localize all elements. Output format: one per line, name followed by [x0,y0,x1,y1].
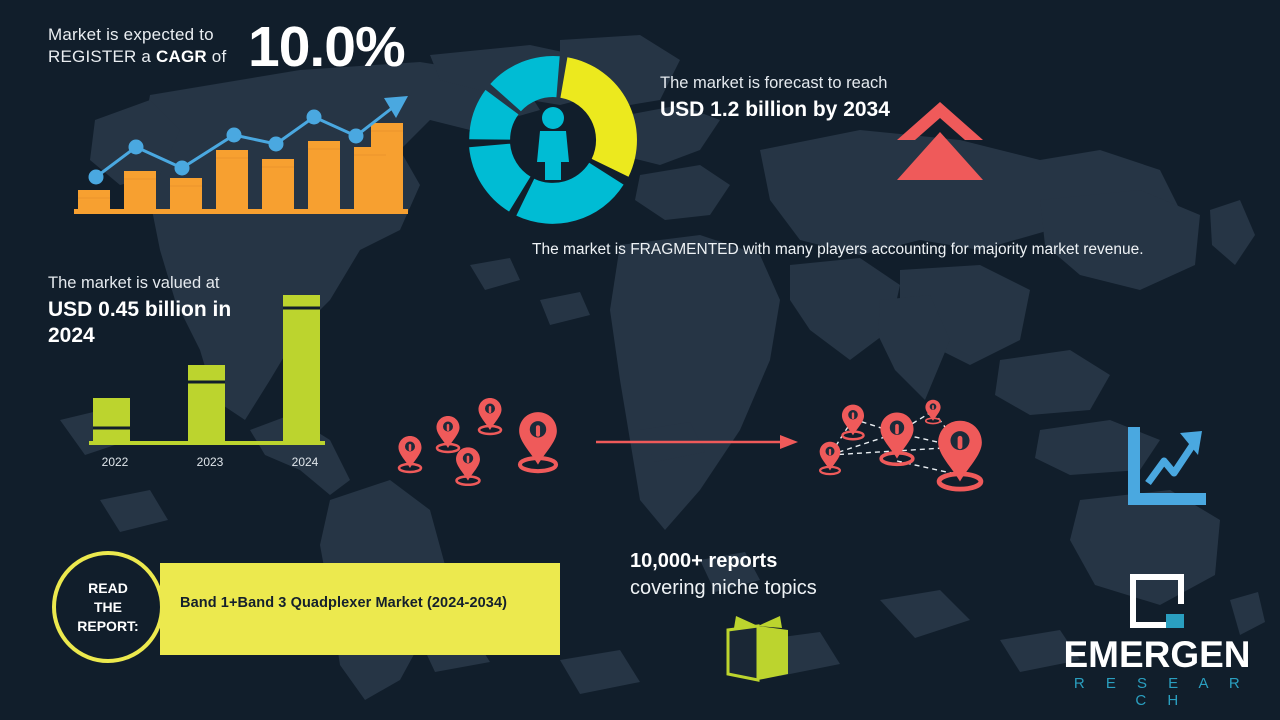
cagr-caption-line2-pre: REGISTER a [48,47,156,66]
growth-trendline-arrow [384,96,408,118]
read-the-report-label: READTHEREPORT: [77,579,138,636]
map-pin [479,398,502,434]
double-chevron-up-icon [895,100,985,182]
cta-line2: THE [94,599,122,615]
map-pin [842,405,864,440]
donut-slice-cyan-1 [516,163,623,224]
logo-subtitle: R E S E A R C H [1062,675,1252,709]
report-title: Band 1+Band 3 Quadplexer Market (2024-20… [180,595,507,611]
cagr-caption-bold: CAGR [156,47,207,66]
bar-year-label-2022: 2022 [85,455,145,469]
donut-slice-yellow [560,57,637,177]
map-pin [880,413,913,465]
map-pin-group-icon [380,385,580,495]
line-chart-up-icon [1122,425,1208,511]
person-icon [537,107,569,180]
map-pin [437,416,460,452]
open-book-icon [722,612,794,684]
cta-line1: READ [88,580,128,596]
reports-count-block: 10,000+ reports covering niche topics [630,548,817,602]
read-the-report-badge[interactable]: READTHEREPORT: [52,551,164,663]
forecast-block: The market is forecast to reach USD 1.2 … [660,72,900,123]
forecast-value: USD 1.2 billion by 2034 [660,97,900,123]
cagr-value: 10.0% [248,18,405,76]
cta-line3: REPORT: [77,618,138,634]
market-value-axis [89,441,325,445]
reports-line1: 10,000+ reports [630,548,817,575]
market-value-bar-chart [85,285,330,450]
map-pin [938,421,982,489]
bar-year-label-2024: 2024 [275,455,335,469]
read-the-report-banner[interactable]: Band 1+Band 3 Quadplexer Market (2024-20… [160,563,560,655]
emergen-research-logo: EMERGEN R E S E A R C H [1062,570,1252,709]
logo-wordmark: EMERGEN [1062,636,1252,674]
bar-year-label-2023: 2023 [180,455,240,469]
arrow-right-icon [596,432,800,452]
map-pin [519,412,557,471]
reports-count: 10,000+ reports [630,550,777,572]
cagr-caption-line1: Market is expected to [48,24,248,46]
donut-chart-person-icon [465,52,641,228]
map-pin [456,447,480,484]
cagr-block: Market is expected to REGISTER a CAGR of… [48,18,448,76]
cagr-caption: Market is expected to REGISTER a CAGR of [48,18,248,68]
cagr-caption-line2: REGISTER a CAGR of [48,46,248,68]
connected-map-pin-network-icon [805,385,1015,500]
cagr-caption-line2-post: of [207,47,227,66]
reports-line2: covering niche topics [630,575,817,602]
forecast-label: The market is forecast to reach [660,72,900,94]
map-pin [820,442,841,474]
map-pin [925,400,940,424]
growth-bar-chart [66,85,416,225]
market-value-bars [93,295,320,443]
fragmented-statement: The market is FRAGMENTED with many playe… [532,238,1222,261]
growth-chart-axis [74,209,408,214]
square-bracket-icon [1126,570,1188,632]
infographic-canvas: Market is expected to REGISTER a CAGR of… [0,0,1280,720]
map-pin [399,436,422,472]
donut-slice-cyan-2 [469,144,530,212]
